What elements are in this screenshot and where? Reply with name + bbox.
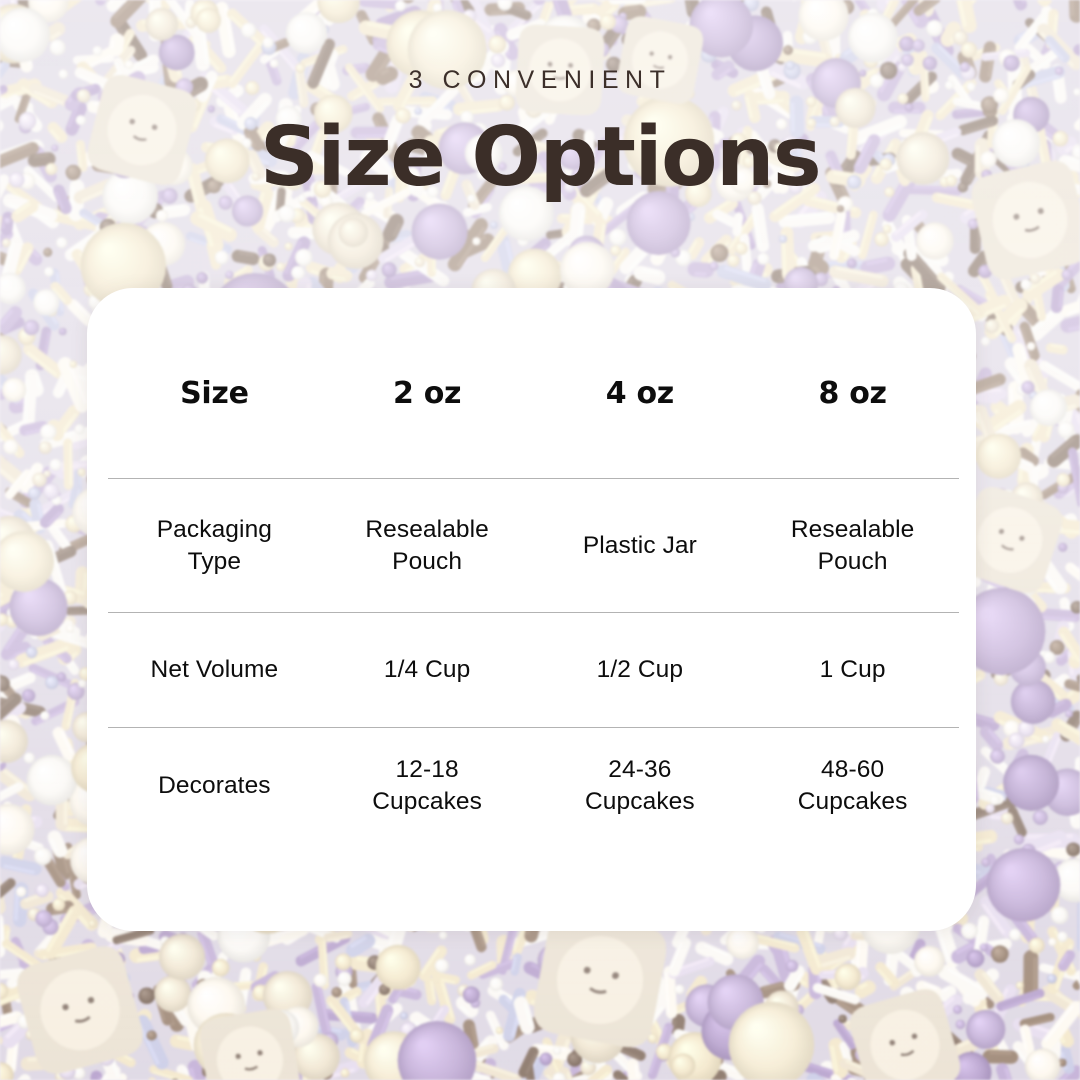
cell-line: Resealable: [321, 514, 534, 546]
table-cell: ResealablePouch: [321, 479, 534, 613]
table-row: Net Volume1/4 Cup1/2 Cup1 Cup: [108, 613, 959, 728]
table-header-row: Size 2 oz 4 oz 8 oz: [108, 288, 959, 479]
table-row: Decorates12-18Cupcakes24-36Cupcakes48-60…: [108, 728, 959, 845]
cell-line: 1/2 Cup: [534, 654, 747, 686]
cell-line: Decorates: [108, 770, 321, 802]
table-header: Size 2 oz 4 oz 8 oz: [108, 288, 959, 479]
table-cell: 1/4 Cup: [321, 613, 534, 728]
table-cell: Plastic Jar: [534, 479, 747, 613]
column-header-4oz: 4 oz: [534, 288, 747, 479]
cell-line: 1/4 Cup: [321, 654, 534, 686]
cell-line: Pouch: [746, 546, 959, 578]
cell-line: Net Volume: [108, 654, 321, 686]
cell-line: 1 Cup: [746, 654, 959, 686]
cell-line: Packaging: [108, 514, 321, 546]
cell-line: Cupcakes: [746, 786, 959, 818]
size-options-infographic: 3 CONVENIENT Size Options Size 2 oz 4 oz…: [0, 0, 1080, 1080]
table-cell: 48-60Cupcakes: [746, 728, 959, 845]
column-header-size: Size: [108, 288, 321, 479]
cell-line: 24-36: [534, 754, 747, 786]
cell-line: Cupcakes: [321, 786, 534, 818]
row-label: Decorates: [108, 728, 321, 845]
column-header-8oz: 8 oz: [746, 288, 959, 479]
header: 3 CONVENIENT Size Options: [0, 0, 1080, 201]
comparison-card: Size 2 oz 4 oz 8 oz PackagingTypeReseala…: [87, 288, 976, 931]
eyebrow-text: 3 CONVENIENT: [0, 68, 1080, 93]
table-cell: 24-36Cupcakes: [534, 728, 747, 845]
cell-line: Type: [108, 546, 321, 578]
cell-line: 48-60: [746, 754, 959, 786]
row-label: Net Volume: [108, 613, 321, 728]
size-comparison-table: Size 2 oz 4 oz 8 oz PackagingTypeReseala…: [108, 288, 959, 844]
table-body: PackagingTypeResealablePouchPlastic JarR…: [108, 479, 959, 845]
table-row: PackagingTypeResealablePouchPlastic JarR…: [108, 479, 959, 613]
column-header-2oz: 2 oz: [321, 288, 534, 479]
cell-line: Pouch: [321, 546, 534, 578]
page-title: Size Options: [0, 115, 1080, 201]
table-cell: 1 Cup: [746, 613, 959, 728]
row-label: PackagingType: [108, 479, 321, 613]
table-cell: 1/2 Cup: [534, 613, 747, 728]
table-cell: 12-18Cupcakes: [321, 728, 534, 845]
table-cell: ResealablePouch: [746, 479, 959, 613]
cell-line: Plastic Jar: [534, 530, 747, 562]
cell-line: 12-18: [321, 754, 534, 786]
cell-line: Cupcakes: [534, 786, 747, 818]
cell-line: Resealable: [746, 514, 959, 546]
